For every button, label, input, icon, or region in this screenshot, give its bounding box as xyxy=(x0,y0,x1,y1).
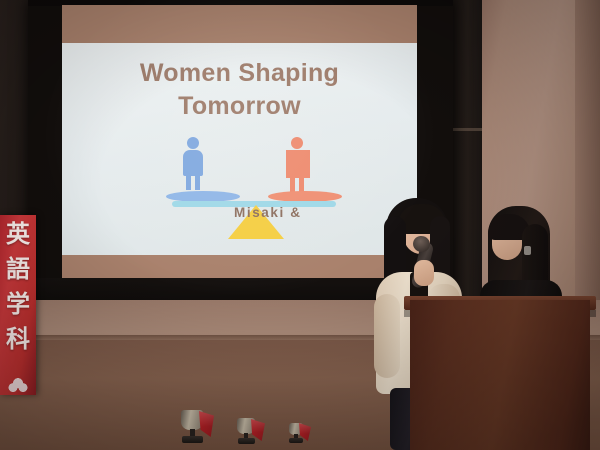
female-figure-legs xyxy=(289,178,305,192)
trophy-3 xyxy=(285,419,315,443)
second-speaker xyxy=(478,206,564,306)
projector-overscan-bottom xyxy=(62,255,417,280)
slide-title-line-1: Women Shaping xyxy=(62,57,417,90)
slide-title: Women Shaping Tomorrow xyxy=(62,57,417,123)
trophy-2 xyxy=(232,414,268,444)
trophy-base xyxy=(289,438,303,443)
female-figure-icon xyxy=(286,137,308,192)
trophy-ribbon xyxy=(199,411,214,437)
wooden-lectern xyxy=(410,300,590,450)
slide-subtitle: Misaki & xyxy=(234,205,302,220)
english-department-banner: 英 語 学 科 xyxy=(0,215,36,395)
banner-char-1: 英 xyxy=(0,217,36,252)
presentation-slide: Women Shaping Tomorrow Mi xyxy=(62,43,417,255)
banner-text: 英 語 学 科 xyxy=(0,217,36,357)
trophy-base xyxy=(238,438,255,444)
male-figure-body xyxy=(183,150,203,176)
trophy-1 xyxy=(175,408,215,444)
projected-image-area: Women Shaping Tomorrow Mi xyxy=(62,5,417,280)
female-figure-head xyxy=(291,137,303,149)
banner-char-4: 科 xyxy=(0,322,36,357)
banner-char-2: 語 xyxy=(0,252,36,287)
slide-title-line-2: Tomorrow xyxy=(62,90,417,123)
trophy-base xyxy=(182,436,203,443)
speaker1-left-arm xyxy=(374,294,400,378)
female-figure-body xyxy=(286,150,310,178)
male-figure-legs xyxy=(185,176,201,190)
hair-clip-icon xyxy=(524,246,531,255)
male-figure-head xyxy=(187,137,199,149)
seesaw-graphic xyxy=(174,135,334,245)
male-figure-icon xyxy=(182,137,204,190)
speaker1-hand xyxy=(414,260,434,286)
banner-logo-icon xyxy=(8,375,28,393)
banner-char-3: 学 xyxy=(0,287,36,322)
presentation-hall-photo: Women Shaping Tomorrow Mi xyxy=(0,0,600,450)
